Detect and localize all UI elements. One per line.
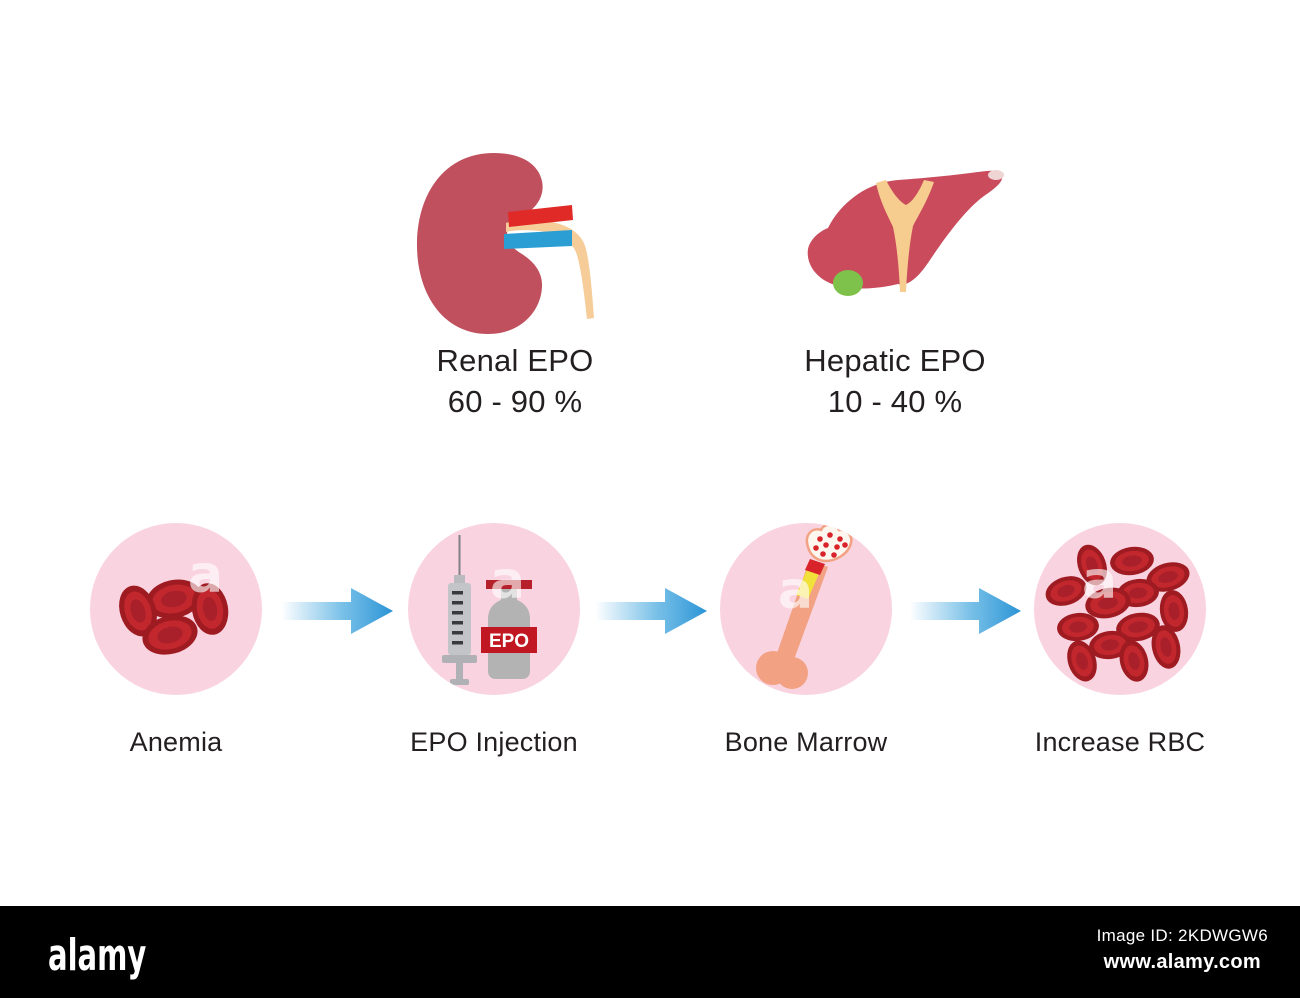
kidney-icon xyxy=(400,150,630,340)
arrow-anemia-to-injection xyxy=(283,585,395,637)
alamy-logo: alamy xyxy=(48,930,146,981)
step-label-epo-injection: EPO Injection xyxy=(406,727,582,758)
step-bone-marrow: a Bone Marrow xyxy=(718,523,894,758)
right-arrow-icon xyxy=(283,585,395,637)
increase-rbc-disc: a xyxy=(1034,523,1206,695)
vial-label-text: EPO xyxy=(489,631,529,652)
organ-block-renal: Renal EPO 60 - 90 % xyxy=(300,150,730,422)
step-epo-injection: EPO a EPO Injection xyxy=(406,523,582,758)
anemia-disc: a xyxy=(90,523,262,695)
footer-credit: Image ID: 2KDWGW6 www.alamy.com xyxy=(1097,926,1268,974)
hepatic-title: Hepatic EPO xyxy=(680,340,1110,381)
step-anemia: a Anemia xyxy=(88,523,264,758)
syringe-and-epo-vial-icon: EPO xyxy=(408,523,580,695)
epo-injection-disc: EPO a xyxy=(408,523,580,695)
step-label-anemia: Anemia xyxy=(88,727,264,758)
renal-value: 60 - 90 % xyxy=(300,381,730,422)
few-red-blood-cells-icon xyxy=(90,523,262,695)
image-id-text: Image ID: 2KDWGW6 xyxy=(1097,926,1268,946)
organ-block-hepatic: Hepatic EPO 10 - 40 % xyxy=(680,150,1110,422)
many-red-blood-cells-icon xyxy=(1034,523,1206,695)
step-label-increase-rbc: Increase RBC xyxy=(1032,727,1208,758)
liver-illustration xyxy=(770,150,1020,340)
liver-icon xyxy=(770,150,1020,340)
diagram-canvas: Renal EPO 60 - 90 % Hepatic EPO 10 - 40 … xyxy=(0,0,1300,998)
right-arrow-icon xyxy=(911,585,1023,637)
step-increase-rbc: a Increase RBC xyxy=(1032,523,1208,758)
renal-title: Renal EPO xyxy=(300,340,730,381)
kidney-illustration xyxy=(400,150,630,340)
alamy-url-text: www.alamy.com xyxy=(1097,951,1268,974)
bone-with-marrow-icon xyxy=(720,523,892,695)
arrow-injection-to-marrow xyxy=(597,585,709,637)
right-arrow-icon xyxy=(597,585,709,637)
hepatic-value: 10 - 40 % xyxy=(680,381,1110,422)
alamy-footer-bar: alamy Image ID: 2KDWGW6 www.alamy.com xyxy=(0,906,1300,998)
arrow-marrow-to-rbc xyxy=(911,585,1023,637)
bone-marrow-disc: a xyxy=(720,523,892,695)
step-label-bone-marrow: Bone Marrow xyxy=(718,727,894,758)
